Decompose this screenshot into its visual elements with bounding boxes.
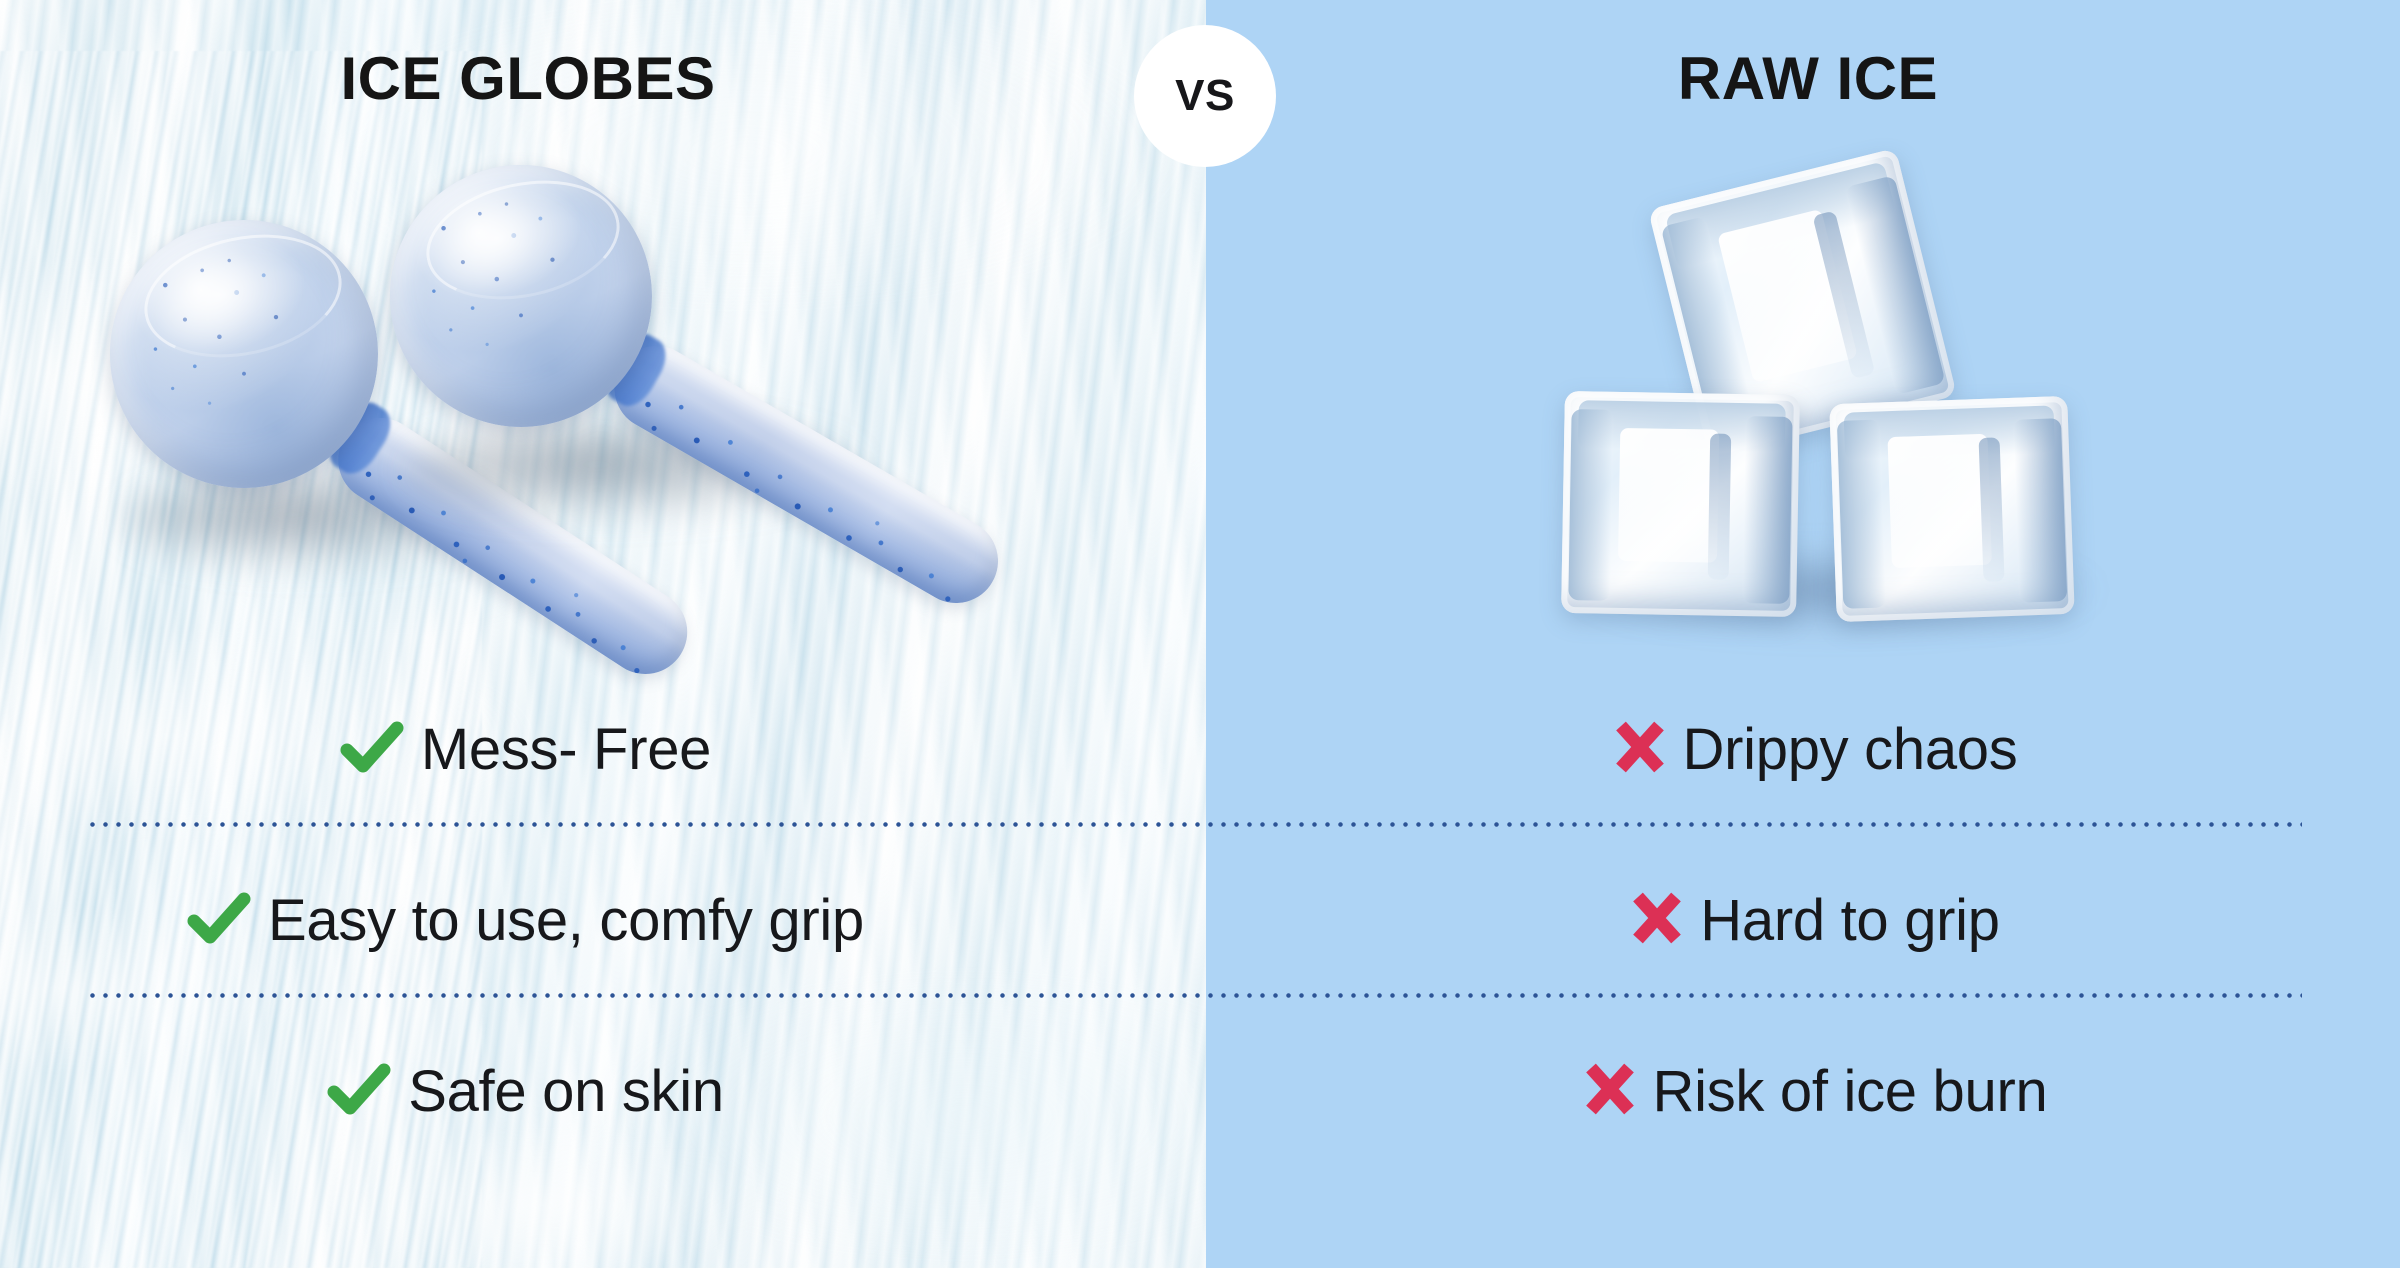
check-icon <box>182 881 256 960</box>
comparison-infographic: ICE GLOBES <box>0 0 2400 1268</box>
check-icon <box>322 1052 396 1131</box>
cross-icon <box>1609 716 1671 783</box>
feature-rows: Mess- Free Easy to use, comfy grip Safe … <box>0 0 2400 1268</box>
drawback-row: Hard to grip <box>1206 843 2400 997</box>
cross-icon <box>1579 1058 1641 1125</box>
vs-label: VS <box>1175 71 1235 121</box>
benefit-row: Easy to use, comfy grip <box>0 843 1206 997</box>
benefit-label: Easy to use, comfy grip <box>268 887 864 954</box>
benefit-label: Mess- Free <box>421 716 711 783</box>
benefit-row: Mess- Free <box>0 672 1206 826</box>
drawback-row: Drippy chaos <box>1206 672 2400 826</box>
vs-badge: VS <box>1134 25 1276 167</box>
drawback-label: Drippy chaos <box>1683 716 2018 783</box>
benefit-label: Safe on skin <box>408 1058 724 1125</box>
drawback-label: Risk of ice burn <box>1653 1058 2048 1125</box>
drawback-row: Risk of ice burn <box>1206 1014 2400 1168</box>
cross-icon <box>1626 887 1688 954</box>
check-icon <box>335 710 409 789</box>
benefit-row: Safe on skin <box>0 1014 1206 1168</box>
drawback-label: Hard to grip <box>1700 887 1999 954</box>
